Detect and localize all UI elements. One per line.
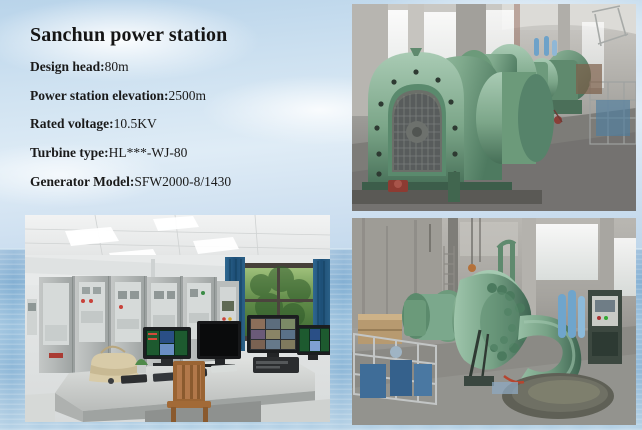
page-title: Sanchun power station <box>30 24 330 47</box>
spec-label-design-head: Design head: <box>30 59 105 74</box>
photo-turbine-and-penstock <box>352 218 636 425</box>
spec-row-design-head: Design head:80m <box>30 59 330 75</box>
spec-label-rated-voltage: Rated voltage: <box>30 116 114 131</box>
spec-row-generator-model: Generator Model:SFW2000-8/1430 <box>30 174 330 190</box>
station-info-panel: Sanchun power station Design head:80m Po… <box>30 24 330 202</box>
power-station-poster: Sanchun power station Design head:80m Po… <box>0 0 642 430</box>
spec-value-design-head: 80m <box>105 59 129 74</box>
photo-powerhouse-generator-hall <box>352 4 636 211</box>
spec-row-rated-voltage: Rated voltage:10.5KV <box>30 116 330 132</box>
spec-label-generator-model: Generator Model: <box>30 174 134 189</box>
spec-value-elevation: 2500m <box>168 88 206 103</box>
spec-value-turbine-type: HL***-WJ-80 <box>109 145 188 160</box>
photo-control-room <box>25 215 330 422</box>
spec-row-turbine-type: Turbine type:HL***-WJ-80 <box>30 145 330 161</box>
spec-row-elevation: Power station elevation:2500m <box>30 88 330 104</box>
spec-value-generator-model: SFW2000-8/1430 <box>134 174 231 189</box>
spec-value-rated-voltage: 10.5KV <box>114 116 157 131</box>
spec-label-elevation: Power station elevation: <box>30 88 168 103</box>
spec-label-turbine-type: Turbine type: <box>30 145 109 160</box>
